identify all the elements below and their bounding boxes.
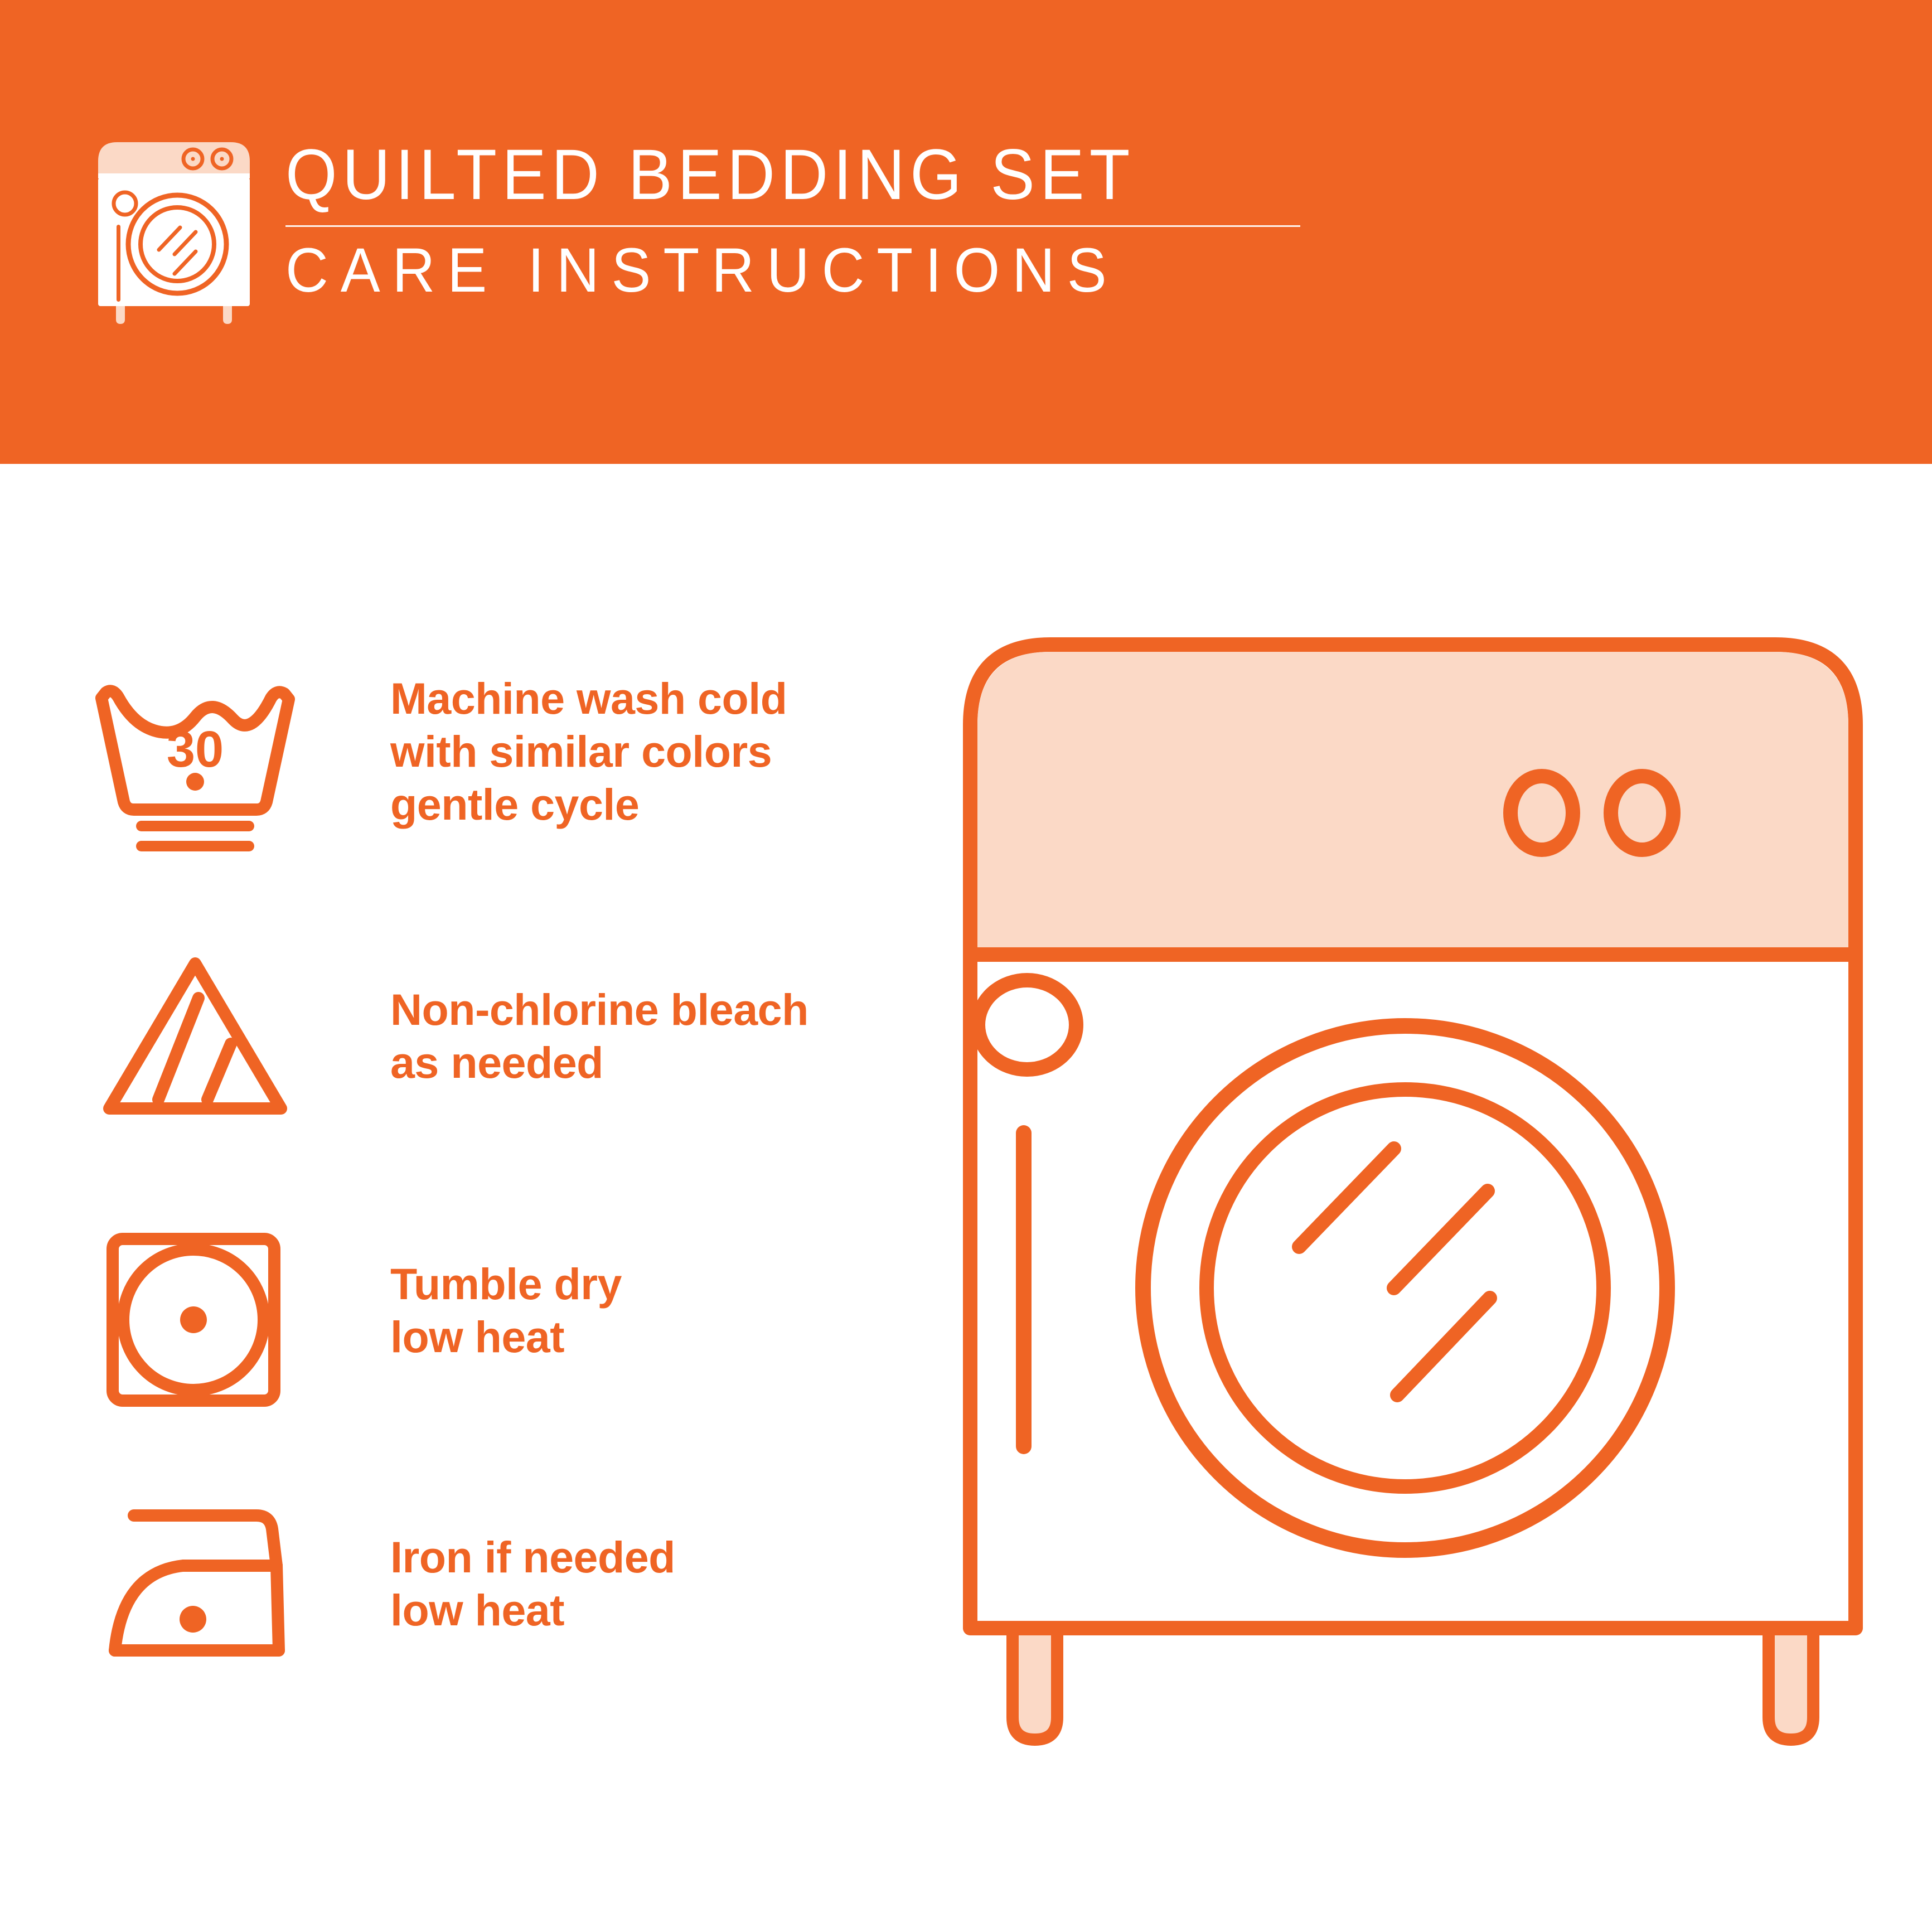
leg-left xyxy=(1013,1628,1057,1740)
care-label-line: low heat xyxy=(390,1584,675,1637)
care-label-line: gentle cycle xyxy=(390,778,787,831)
care-label-line: as needed xyxy=(390,1037,808,1090)
care-row-tumble-dry: Tumble dry low heat xyxy=(0,1210,948,1483)
care-label-machine-wash: Machine wash cold with similar colors ge… xyxy=(390,672,787,831)
care-label-line: Machine wash cold xyxy=(390,672,787,725)
wash-temperature-value: 30 xyxy=(167,721,224,778)
header-banner: QUILTED BEDDING SET CARE INSTRUCTIONS xyxy=(0,0,1932,464)
care-label-iron: Iron if needed low heat xyxy=(390,1531,675,1637)
care-label-tumble-dry: Tumble dry low heat xyxy=(390,1258,622,1364)
care-instructions-infographic: QUILTED BEDDING SET CARE INSTRUCTIONS 30… xyxy=(0,0,1932,1932)
tumble-dry-low-heat-symbol xyxy=(89,1210,301,1422)
wash-basin-30-gentle-symbol: 30 xyxy=(89,664,301,875)
care-label-line: Tumble dry xyxy=(390,1258,622,1311)
care-label-bleach: Non-chlorine bleach as needed xyxy=(390,984,808,1090)
care-instructions-list: 30 Machine wash cold with similar colors… xyxy=(0,664,948,1756)
care-label-line: Iron if needed xyxy=(390,1531,675,1584)
care-row-machine-wash: 30 Machine wash cold with similar colors… xyxy=(0,664,948,937)
care-row-iron: Iron if needed low heat xyxy=(0,1483,948,1756)
care-label-line: with similar colors xyxy=(390,725,787,778)
leg-right xyxy=(1769,1628,1813,1740)
page-title: QUILTED BEDDING SET xyxy=(285,139,1239,211)
page-subtitle: CARE INSTRUCTIONS xyxy=(285,239,1260,302)
iron-low-heat-symbol xyxy=(89,1483,301,1695)
care-label-line: Non-chlorine bleach xyxy=(390,984,808,1037)
care-label-line: low heat xyxy=(390,1311,622,1364)
header-text-block: QUILTED BEDDING SET CARE INSTRUCTIONS xyxy=(285,139,1311,302)
title-divider xyxy=(285,225,1300,227)
large-washing-machine-illustration xyxy=(959,624,1873,1829)
non-chlorine-bleach-triangle-symbol xyxy=(89,937,301,1149)
washing-machine-icon xyxy=(94,135,254,325)
care-row-bleach: Non-chlorine bleach as needed xyxy=(0,937,948,1210)
handle-bar xyxy=(1016,1125,1032,1454)
